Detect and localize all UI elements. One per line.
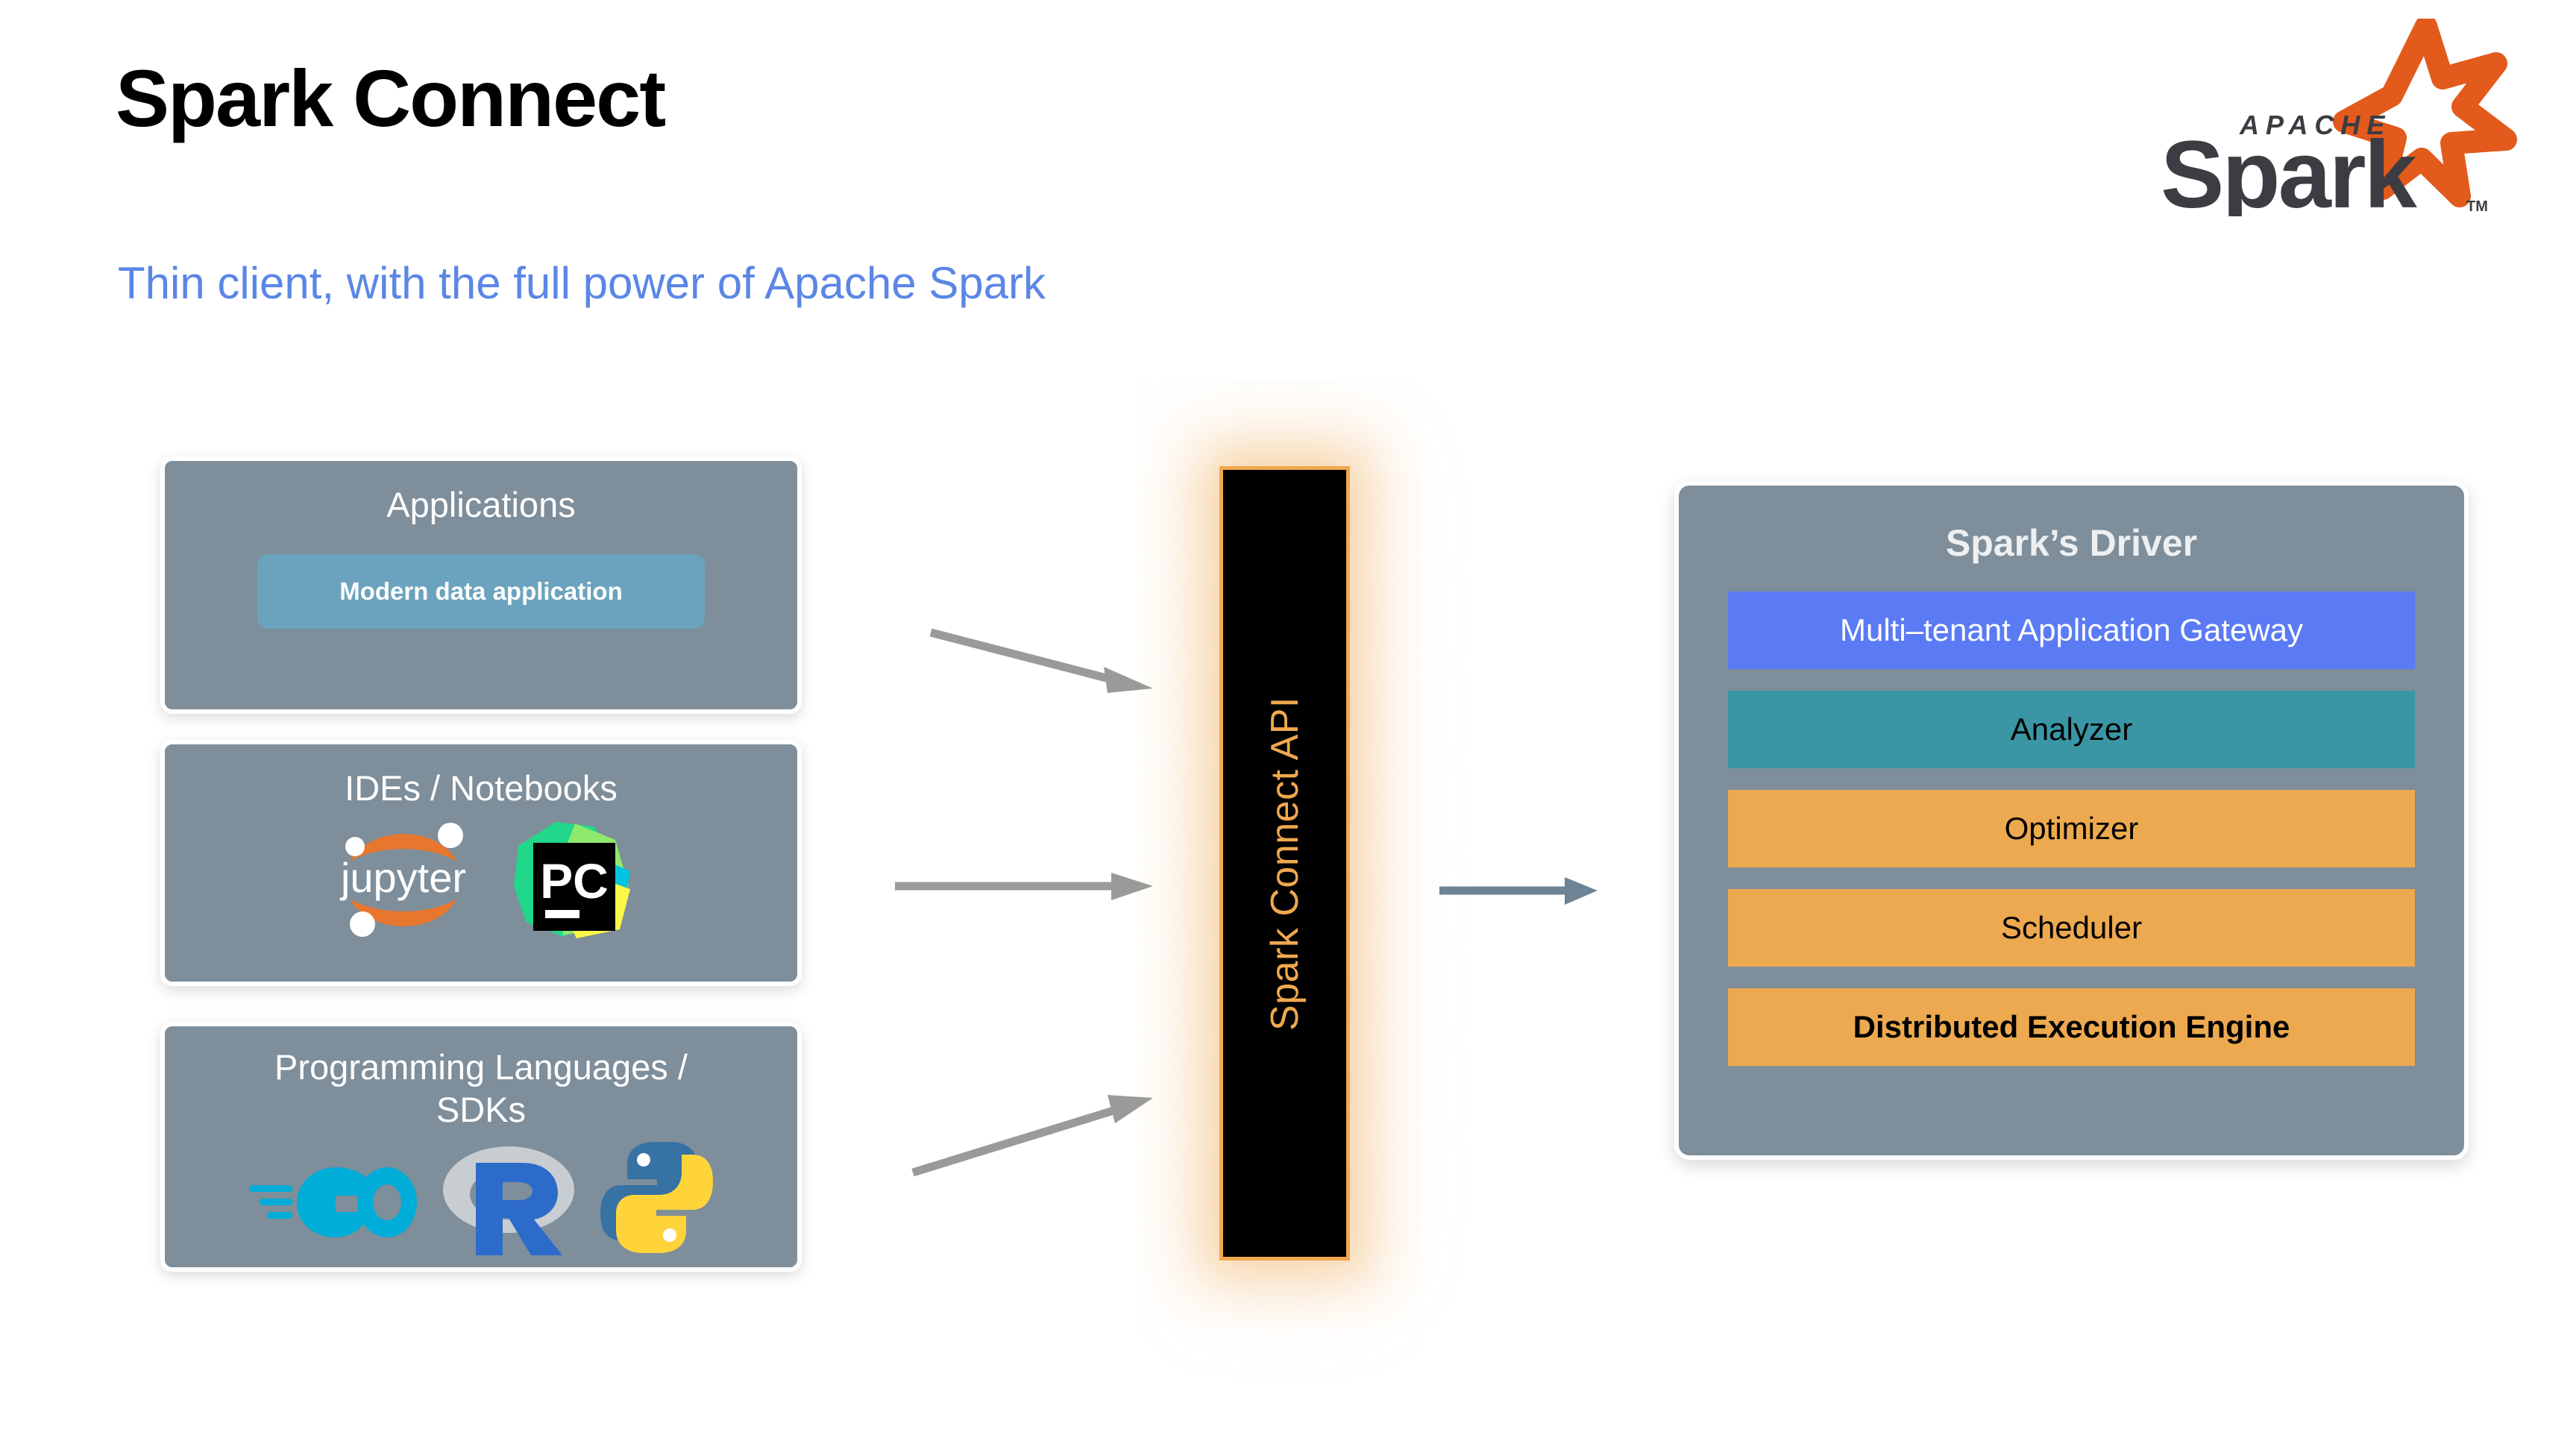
card-languages-title-line2: SDKs [165,1088,797,1131]
driver-row-analyzer[interactable]: Analyzer [1728,691,2415,768]
driver-row-analyzer-label: Analyzer [2011,714,2132,745]
jupyter-logo: jupyter [329,815,478,942]
pycharm-logo: PC [511,817,634,941]
jupyter-wordmark: jupyter [339,854,465,901]
spark-connect-api-label: Spark Connect API [1263,697,1307,1031]
card-applications[interactable]: Applications Modern data application [160,456,802,714]
driver-row-execution-engine-label: Distributed Execution Engine [1853,1011,2290,1043]
card-applications-title: Applications [165,483,797,526]
card-programming-languages[interactable]: Programming Languages / SDKs [160,1022,802,1272]
trademark-mark: TM [2466,198,2488,215]
arrow-api-to-driver [1417,865,1611,932]
driver-row-execution-engine[interactable]: Distributed Execution Engine [1728,988,2415,1066]
arrow-ides-to-api [880,858,1193,940]
modern-data-application-label: Modern data application [339,577,623,606]
pycharm-pc-text: PC [540,853,609,908]
spark-driver-title: Spark’s Driver [1679,524,2464,562]
go-logo [248,1152,419,1242]
apache-spark-logo: APACHE Spark TM [2129,19,2525,216]
card-languages-title: Programming Languages / SDKs [165,1046,797,1131]
driver-row-gateway[interactable]: Multi–tenant Application Gateway [1728,591,2415,669]
spark-driver-panel[interactable]: Spark’s Driver Multi–tenant Application … [1674,481,2469,1160]
page-subtitle: Thin client, with the full power of Apac… [118,261,1046,306]
r-logo [440,1136,578,1259]
arrow-languages-to-api [880,1052,1193,1186]
page-title: Spark Connect [116,58,665,139]
modern-data-application-pill[interactable]: Modern data application [257,554,705,629]
driver-row-scheduler-label: Scheduler [2001,912,2142,944]
driver-row-gateway-label: Multi–tenant Application Gateway [1840,615,2303,646]
driver-row-scheduler[interactable]: Scheduler [1728,889,2415,967]
arrow-applications-to-api [880,612,1193,723]
spark-wordmark: Spark [2161,122,2418,216]
ide-logo-row: jupyter PC [165,815,797,942]
driver-row-optimizer-label: Optimizer [2005,813,2139,844]
card-languages-title-line1: Programming Languages / [165,1046,797,1088]
driver-row-optimizer[interactable]: Optimizer [1728,790,2415,867]
card-ides-title: IDEs / Notebooks [165,767,797,809]
driver-row-list: Multi–tenant Application Gateway Analyze… [1679,591,2464,1066]
spark-connect-api-bar[interactable]: Spark Connect API [1219,466,1350,1261]
language-logo-row [165,1136,797,1259]
card-ides-notebooks[interactable]: IDEs / Notebooks jupyter PC [160,740,802,986]
python-logo [599,1136,714,1259]
